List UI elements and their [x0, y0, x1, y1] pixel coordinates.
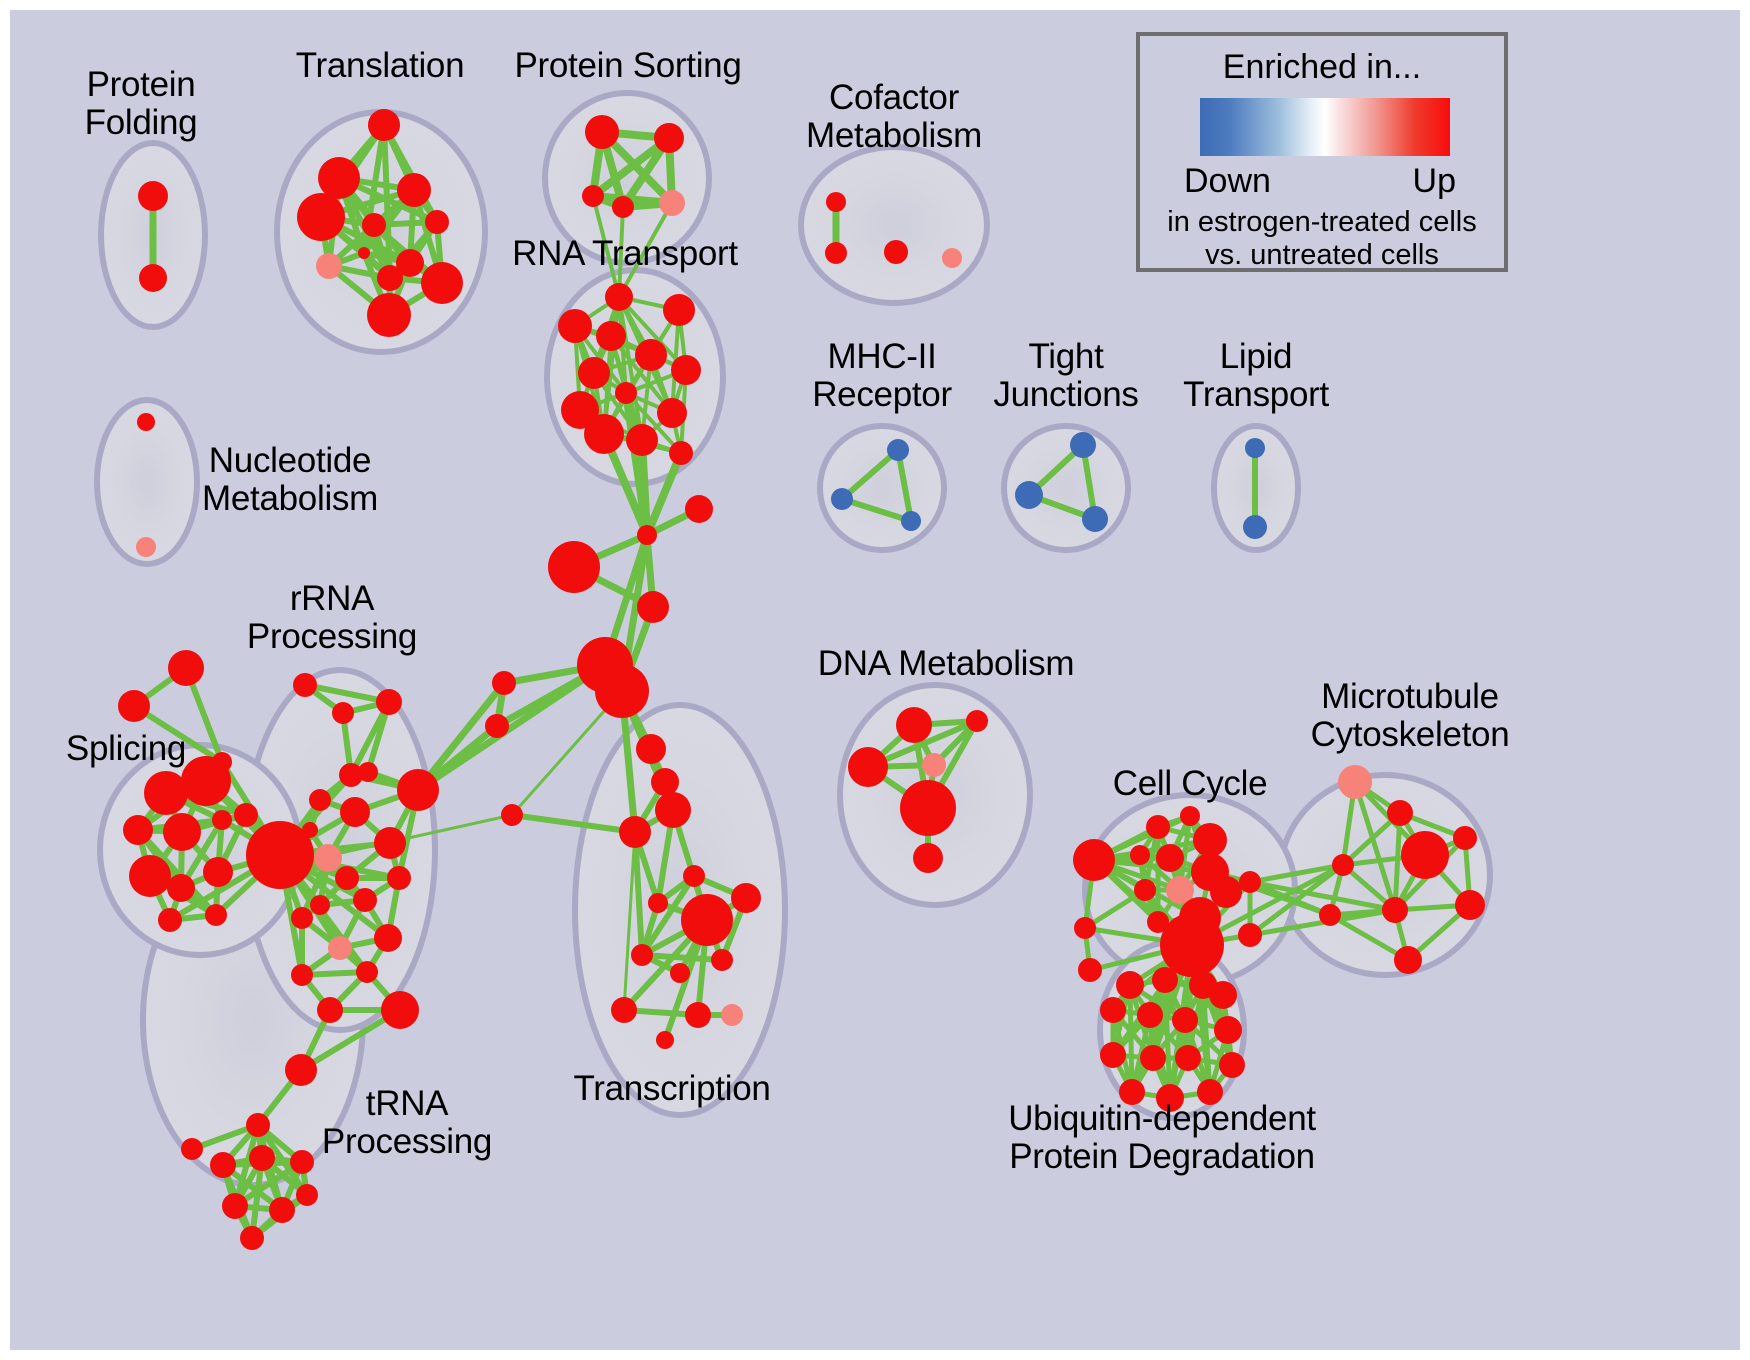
- node: [367, 293, 411, 337]
- node: [659, 190, 685, 216]
- node: [309, 789, 331, 811]
- node: [1160, 913, 1224, 977]
- node: [158, 908, 182, 932]
- node: [1152, 967, 1178, 993]
- node: [731, 883, 761, 913]
- node: [1401, 831, 1449, 879]
- node: [1172, 1007, 1198, 1033]
- node: [1146, 815, 1170, 839]
- node: [181, 1138, 203, 1160]
- node: [1119, 1079, 1145, 1105]
- node: [136, 537, 156, 557]
- node: [1140, 1045, 1166, 1071]
- node: [291, 964, 313, 986]
- legend-subtitle: in estrogen-treated cells vs. untreated …: [1140, 206, 1504, 273]
- node: [1070, 432, 1096, 458]
- node: [501, 804, 523, 826]
- node: [636, 734, 666, 764]
- node: [681, 894, 733, 946]
- node: [648, 893, 668, 913]
- node: [654, 123, 684, 153]
- node: [558, 309, 592, 343]
- node: [611, 997, 637, 1023]
- node: [1453, 826, 1477, 850]
- node: [210, 1152, 236, 1178]
- node: [234, 803, 258, 827]
- node: [353, 888, 377, 912]
- node: [1073, 839, 1115, 881]
- node: [163, 813, 201, 851]
- figure-canvas: Protein Folding Translation Protein Sort…: [0, 0, 1750, 1360]
- node: [1455, 890, 1485, 920]
- node: [168, 650, 204, 686]
- node: [848, 747, 888, 787]
- node: [582, 185, 604, 207]
- node: [358, 762, 378, 782]
- node: [578, 357, 610, 389]
- node: [711, 949, 733, 971]
- node: [1387, 800, 1413, 826]
- node: [421, 262, 463, 304]
- node: [1319, 904, 1341, 926]
- node: [316, 253, 342, 279]
- node: [167, 874, 195, 902]
- node: [397, 173, 431, 207]
- node: [966, 710, 988, 732]
- node: [297, 193, 345, 241]
- node: [181, 756, 231, 806]
- node: [317, 997, 343, 1023]
- node: [249, 1145, 275, 1171]
- node: [896, 707, 932, 743]
- node: [246, 821, 314, 889]
- node: [584, 414, 624, 454]
- legend-low-label: Down: [1184, 162, 1271, 201]
- node: [651, 768, 679, 796]
- node: [1214, 1016, 1242, 1044]
- node: [1180, 806, 1200, 826]
- node: [246, 1113, 270, 1137]
- node: [657, 398, 687, 428]
- hull-mhc-ii-receptor: [820, 426, 944, 550]
- node: [387, 866, 411, 890]
- node: [1338, 765, 1372, 799]
- node: [139, 264, 167, 292]
- node: [1156, 1084, 1184, 1112]
- node: [377, 265, 403, 291]
- node: [1116, 971, 1144, 999]
- node: [356, 961, 378, 983]
- node: [203, 857, 233, 887]
- node: [884, 240, 908, 264]
- node: [942, 248, 962, 268]
- node: [548, 541, 600, 593]
- node: [663, 294, 695, 326]
- node: [655, 792, 691, 828]
- node: [212, 810, 232, 830]
- node: [137, 413, 155, 431]
- legend-box: Enriched in... Down Up in estrogen-treat…: [1136, 32, 1508, 272]
- node: [1130, 845, 1150, 865]
- node: [138, 181, 168, 211]
- node: [825, 242, 847, 264]
- node: [1078, 958, 1102, 982]
- node: [612, 196, 634, 218]
- node: [605, 283, 633, 311]
- node: [397, 769, 439, 811]
- node: [669, 441, 693, 465]
- node: [1137, 1002, 1163, 1028]
- node: [1156, 844, 1184, 872]
- network-plot: Protein Folding Translation Protein Sort…: [10, 10, 1740, 1350]
- node: [901, 511, 921, 531]
- node: [285, 1054, 317, 1086]
- node: [626, 424, 658, 456]
- node: [595, 664, 649, 718]
- node: [1219, 1052, 1245, 1078]
- node: [685, 495, 713, 523]
- node: [290, 1150, 314, 1174]
- node: [1209, 981, 1237, 1009]
- node: [1332, 854, 1354, 876]
- node: [1243, 515, 1267, 539]
- node: [269, 1197, 295, 1223]
- node: [425, 210, 449, 234]
- node: [118, 690, 150, 722]
- node: [485, 714, 509, 738]
- node: [374, 924, 402, 952]
- node: [900, 780, 956, 836]
- node: [615, 382, 637, 404]
- node: [492, 671, 516, 695]
- node: [129, 855, 171, 897]
- node: [1394, 946, 1422, 974]
- node: [656, 1031, 674, 1049]
- node: [381, 991, 419, 1029]
- node: [1382, 897, 1408, 923]
- node: [1193, 823, 1227, 857]
- node: [358, 247, 370, 259]
- node: [826, 192, 846, 212]
- node: [1100, 1042, 1126, 1068]
- node: [619, 816, 651, 848]
- node: [922, 753, 946, 777]
- node: [683, 865, 705, 887]
- node: [123, 815, 153, 845]
- node: [1175, 1045, 1201, 1071]
- node: [293, 673, 317, 697]
- node: [205, 904, 227, 926]
- node: [596, 321, 626, 351]
- node: [328, 936, 352, 960]
- hull-cofactor-metabolism: [801, 147, 987, 303]
- node: [318, 157, 360, 199]
- node: [310, 895, 330, 915]
- node: [1082, 506, 1108, 532]
- node: [887, 439, 909, 461]
- node: [637, 591, 669, 623]
- node: [335, 866, 359, 890]
- hull-protein-sorting: [545, 93, 709, 263]
- node: [685, 1002, 711, 1028]
- node: [1015, 481, 1043, 509]
- node: [240, 1226, 264, 1250]
- node: [1197, 1079, 1223, 1105]
- legend-high-label: Up: [1413, 162, 1456, 201]
- node: [635, 339, 667, 371]
- node: [671, 355, 701, 385]
- node: [362, 213, 386, 237]
- node: [637, 525, 657, 545]
- node: [1074, 917, 1096, 939]
- node: [222, 1193, 248, 1219]
- node: [1245, 438, 1265, 458]
- node: [670, 963, 690, 983]
- node: [631, 944, 653, 966]
- node: [314, 844, 342, 872]
- node: [1134, 879, 1156, 901]
- node: [340, 797, 370, 827]
- node: [1100, 997, 1126, 1023]
- node: [831, 488, 853, 510]
- node: [1239, 871, 1261, 893]
- node: [332, 702, 354, 724]
- node: [1238, 923, 1262, 947]
- legend-color-gradient-bar: [1200, 98, 1450, 156]
- node: [291, 907, 313, 929]
- node: [368, 109, 400, 141]
- node: [374, 827, 406, 859]
- node: [376, 689, 402, 715]
- node: [1210, 876, 1242, 908]
- node: [913, 843, 943, 873]
- node: [721, 1004, 743, 1026]
- legend-title: Enriched in...: [1140, 48, 1504, 87]
- node: [296, 1184, 318, 1206]
- node: [585, 115, 619, 149]
